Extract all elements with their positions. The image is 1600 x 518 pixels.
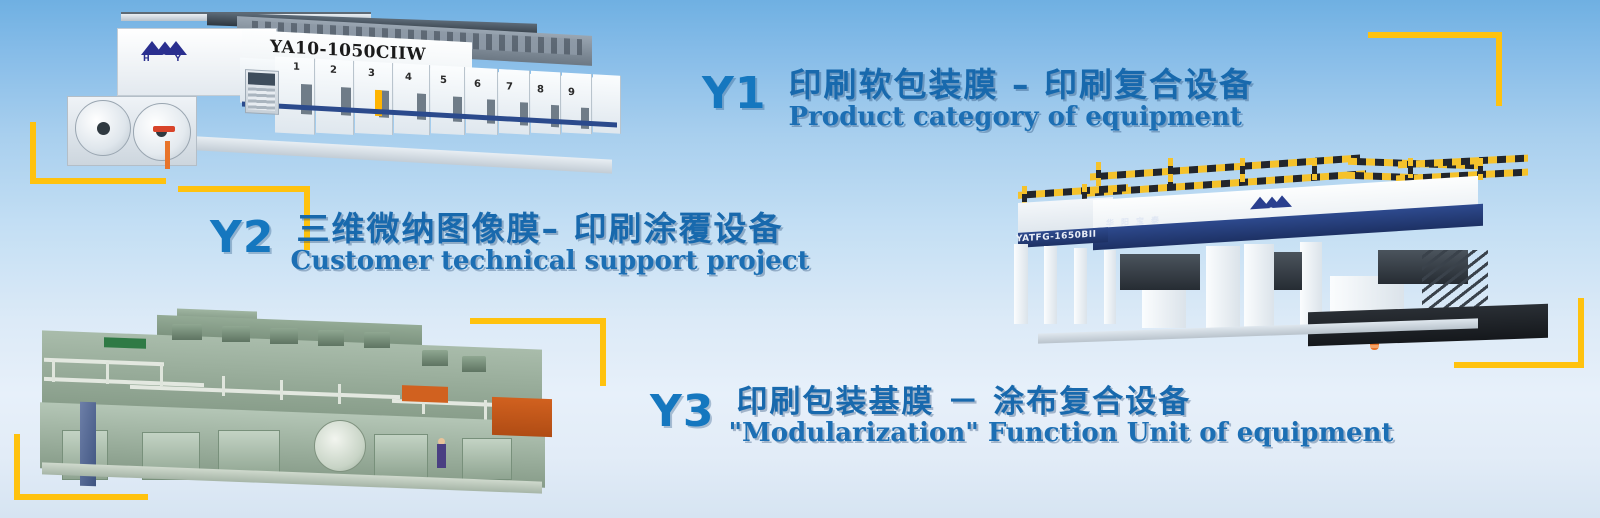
- entry-y1-label: Y1: [702, 72, 766, 116]
- bracket-left-vertical: [30, 122, 36, 184]
- machine3-motor: [318, 330, 344, 346]
- machine3-motor: [462, 356, 486, 372]
- machine3-rail-post: [484, 400, 487, 420]
- machine1-unit-number: 3: [368, 68, 375, 79]
- machine1-unit-number: 2: [330, 65, 337, 76]
- machine1-roll-hub: [97, 122, 110, 135]
- machine2-column: [1044, 246, 1057, 324]
- bracket-right-horizontal: [1454, 362, 1584, 368]
- bracket-y2-horizontal: [178, 186, 310, 192]
- machine3-motor: [172, 324, 202, 340]
- entry-y3-english: "Modularization" Function Unit of equipm…: [728, 420, 1393, 447]
- machine2-rail-post: [1312, 158, 1317, 180]
- machine2-column: [1244, 244, 1274, 328]
- operator-body: [437, 444, 446, 468]
- machine2-rail-post: [1096, 162, 1101, 186]
- logo-letter-h: H: [143, 54, 150, 63]
- machine3-rail-post: [160, 364, 163, 386]
- machine3-operator-figure: [437, 438, 446, 468]
- entry-y1: Y1 印刷软包装膜 – 印刷复合设备 Product category of e…: [702, 68, 1254, 131]
- machine1-red-detail: [153, 126, 175, 132]
- machine1-unit-number: 9: [568, 87, 575, 98]
- machine3-rail-post: [338, 384, 341, 404]
- machine-image-gravure-printing-press: H Y YA10-1050CIIW 1 2 3 4 5 6 7 8 9: [57, 8, 597, 178]
- promo-banner: H Y YA10-1050CIIW 1 2 3 4 5 6 7 8 9: [0, 0, 1600, 518]
- bracket-bottom-left-vertical: [14, 434, 20, 500]
- bracket-bottom-left-horizontal: [14, 494, 148, 500]
- machine2-rail-post: [1240, 158, 1245, 182]
- machine1-print-units: 1 2 3 4 5 6 7 8 9: [275, 56, 615, 153]
- entry-y3-text: 印刷包装基膜 － 涂布复合设备 "Modularization" Functio…: [736, 386, 1393, 447]
- entry-y3: Y3 印刷包装基膜 － 涂布复合设备 "Modularization" Func…: [650, 386, 1393, 447]
- machine3-green-accent: [104, 337, 146, 349]
- machine2-roller-bank: [1120, 254, 1200, 290]
- machine1-unit-number: 8: [537, 84, 544, 95]
- machine2-rail-post: [1478, 158, 1483, 180]
- machine2-column: [1104, 250, 1116, 324]
- entry-y3-label: Y3: [650, 390, 714, 434]
- entry-y2-english: Customer technical support project: [290, 248, 809, 275]
- machine1-brand-logo: H Y: [141, 41, 187, 63]
- machine1-control-screen: [248, 72, 275, 85]
- machine1-unit-number: 7: [506, 81, 513, 92]
- machine-image-coating-laminating-line: 华阳宝泰 YATFG-1650BII: [978, 158, 1548, 358]
- machine3-rail-post: [280, 380, 283, 400]
- entry-y2-text: 三维微纳图像膜– 印刷涂覆设备 Customer technical suppo…: [296, 212, 809, 275]
- machine3-motor: [222, 326, 250, 342]
- machine1-unit-number: 1: [293, 62, 300, 73]
- machine3-unit-box: [374, 434, 428, 478]
- entry-y2-chinese: 三维微纳图像膜– 印刷涂覆设备: [296, 212, 809, 247]
- logo-bird-right-icon: [165, 41, 187, 55]
- machine2-column: [1206, 246, 1240, 328]
- machine3-orange-cabinet: [492, 397, 552, 437]
- machine3-motor: [270, 328, 298, 344]
- logo-letter-y: Y: [175, 54, 181, 63]
- machine3-unit-box: [462, 438, 512, 480]
- entry-y1-chinese: 印刷软包装膜 – 印刷复合设备: [788, 68, 1253, 103]
- machine3-rail-post: [222, 376, 225, 396]
- machine-image-green-coating-line: [22, 302, 582, 492]
- machine1-unit-number: 6: [474, 79, 481, 90]
- entry-y2: Y2 三维微纳图像膜– 印刷涂覆设备 Customer technical su…: [210, 212, 810, 275]
- bracket-top-right-vertical: [1496, 32, 1502, 106]
- machine1-orange-detail: [165, 141, 170, 169]
- machine3-motor: [364, 332, 390, 348]
- machine3-rail-post: [106, 362, 109, 384]
- bracket-right-vertical: [1578, 298, 1584, 368]
- machine3-orange-detail: [402, 385, 448, 403]
- bracket-mid-vertical: [600, 318, 606, 386]
- entry-y2-label: Y2: [210, 216, 274, 260]
- machine1-unit-number: 4: [405, 72, 412, 83]
- machine2-brand-logo: [1250, 195, 1294, 212]
- machine2-column: [1074, 248, 1087, 324]
- logo-bird-right-icon: [1272, 195, 1292, 208]
- entry-y3-chinese: 印刷包装基膜 － 涂布复合设备: [736, 386, 1393, 419]
- entry-y1-english: Product category of equipment: [788, 104, 1253, 131]
- bracket-top-right-horizontal: [1368, 32, 1502, 38]
- bracket-left-horizontal: [30, 178, 166, 184]
- machine3-motor: [422, 350, 448, 366]
- machine2-rail-post: [1408, 158, 1413, 178]
- entry-y1-text: 印刷软包装膜 – 印刷复合设备 Product category of equi…: [788, 68, 1253, 131]
- machine2-column: [1014, 244, 1028, 324]
- machine1-unit-number: 5: [440, 75, 447, 86]
- machine2-roller-bank: [1274, 252, 1302, 290]
- machine3-winding-roll: [314, 420, 366, 472]
- machine1-control-keypad: [248, 87, 275, 110]
- machine2-rail-post: [1168, 158, 1173, 184]
- machine3-rail-post: [52, 360, 55, 382]
